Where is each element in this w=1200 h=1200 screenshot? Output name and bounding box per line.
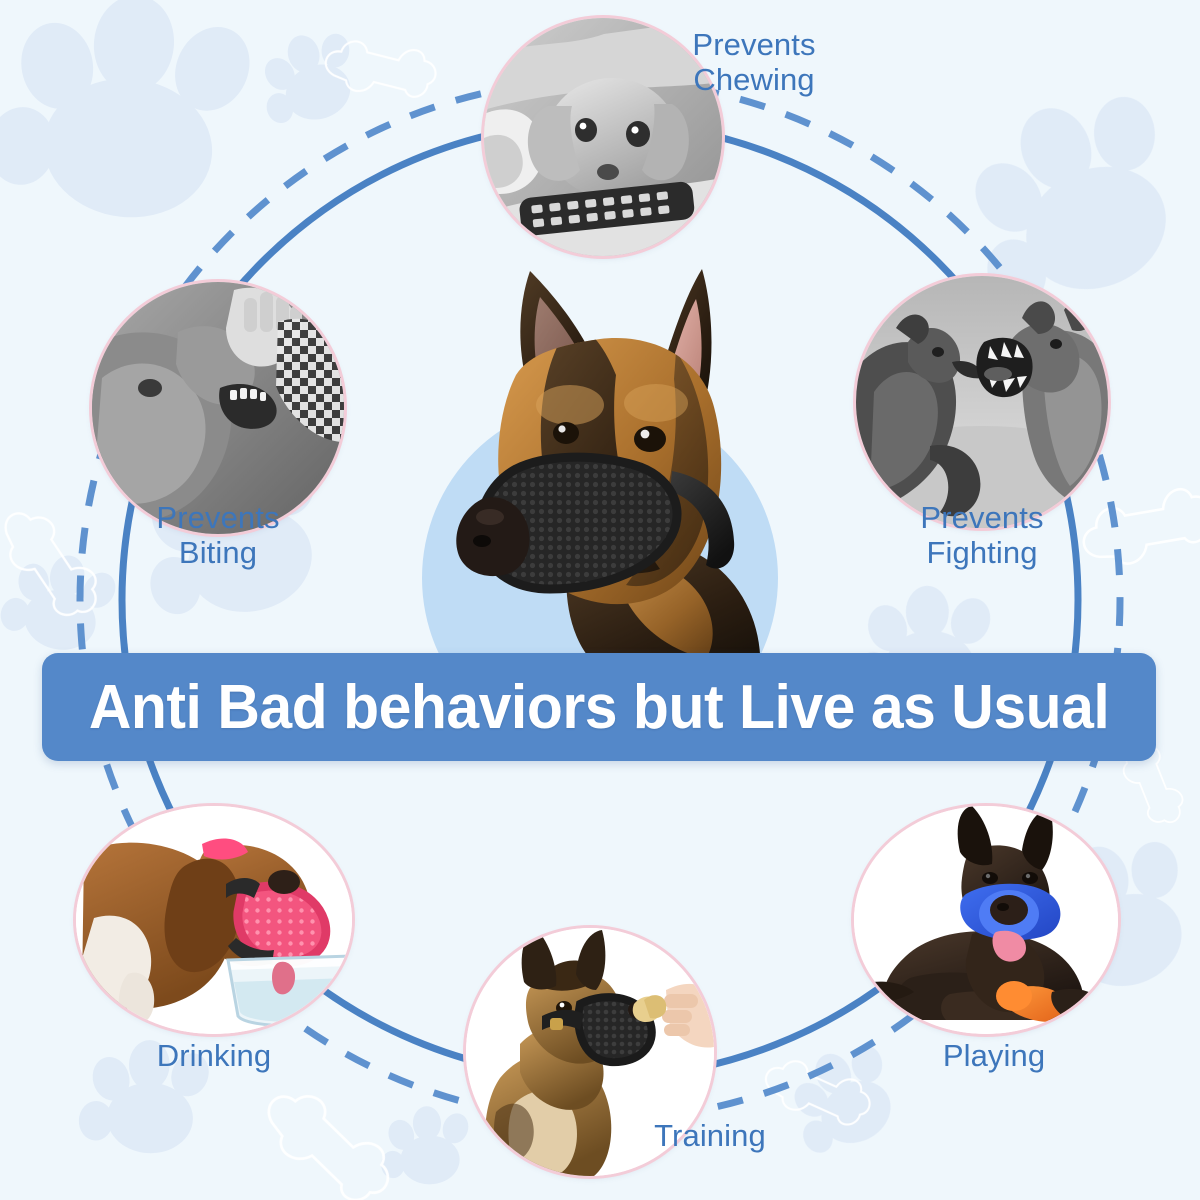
infographic-canvas: Prevents Chewing	[0, 0, 1200, 1200]
paw-print-icon	[377, 1100, 473, 1192]
headline-text: Anti Bad behaviors but Live as Usual	[89, 672, 1109, 743]
feature-node-training[interactable]: Training	[466, 928, 714, 1176]
caption-playing: Playing	[854, 1038, 1134, 1073]
bone-icon	[254, 1089, 401, 1200]
paw-print-icon	[253, 25, 364, 132]
caption-prevents-fighting: Prevents Fighting	[842, 500, 1122, 571]
caption-prevents-chewing: Prevents Chewing	[614, 27, 894, 98]
feature-node-playing[interactable]: Playing	[854, 806, 1118, 1034]
photo-drinking	[76, 806, 352, 1034]
bone-icon	[321, 20, 441, 120]
headline-banner: Anti Bad behaviors but Live as Usual	[42, 653, 1156, 761]
caption-prevents-biting: Prevents Biting	[78, 500, 358, 571]
feature-node-fighting[interactable]: Prevents Fighting	[856, 276, 1108, 528]
photo-playing	[854, 806, 1118, 1034]
dog-eye-left	[553, 422, 579, 444]
caption-drinking: Drinking	[74, 1038, 354, 1073]
feature-node-chewing[interactable]: Prevents Chewing	[484, 18, 722, 256]
center-dog-illustration	[420, 255, 792, 675]
photo-prevents-fighting	[856, 276, 1108, 528]
caption-training: Training	[570, 1118, 850, 1153]
feature-node-biting[interactable]: Prevents Biting	[92, 282, 344, 534]
paw-print-icon	[0, 0, 269, 252]
feature-node-drinking[interactable]: Drinking	[76, 806, 352, 1034]
dog-eye-right	[634, 426, 666, 452]
photo-prevents-biting	[92, 282, 344, 534]
